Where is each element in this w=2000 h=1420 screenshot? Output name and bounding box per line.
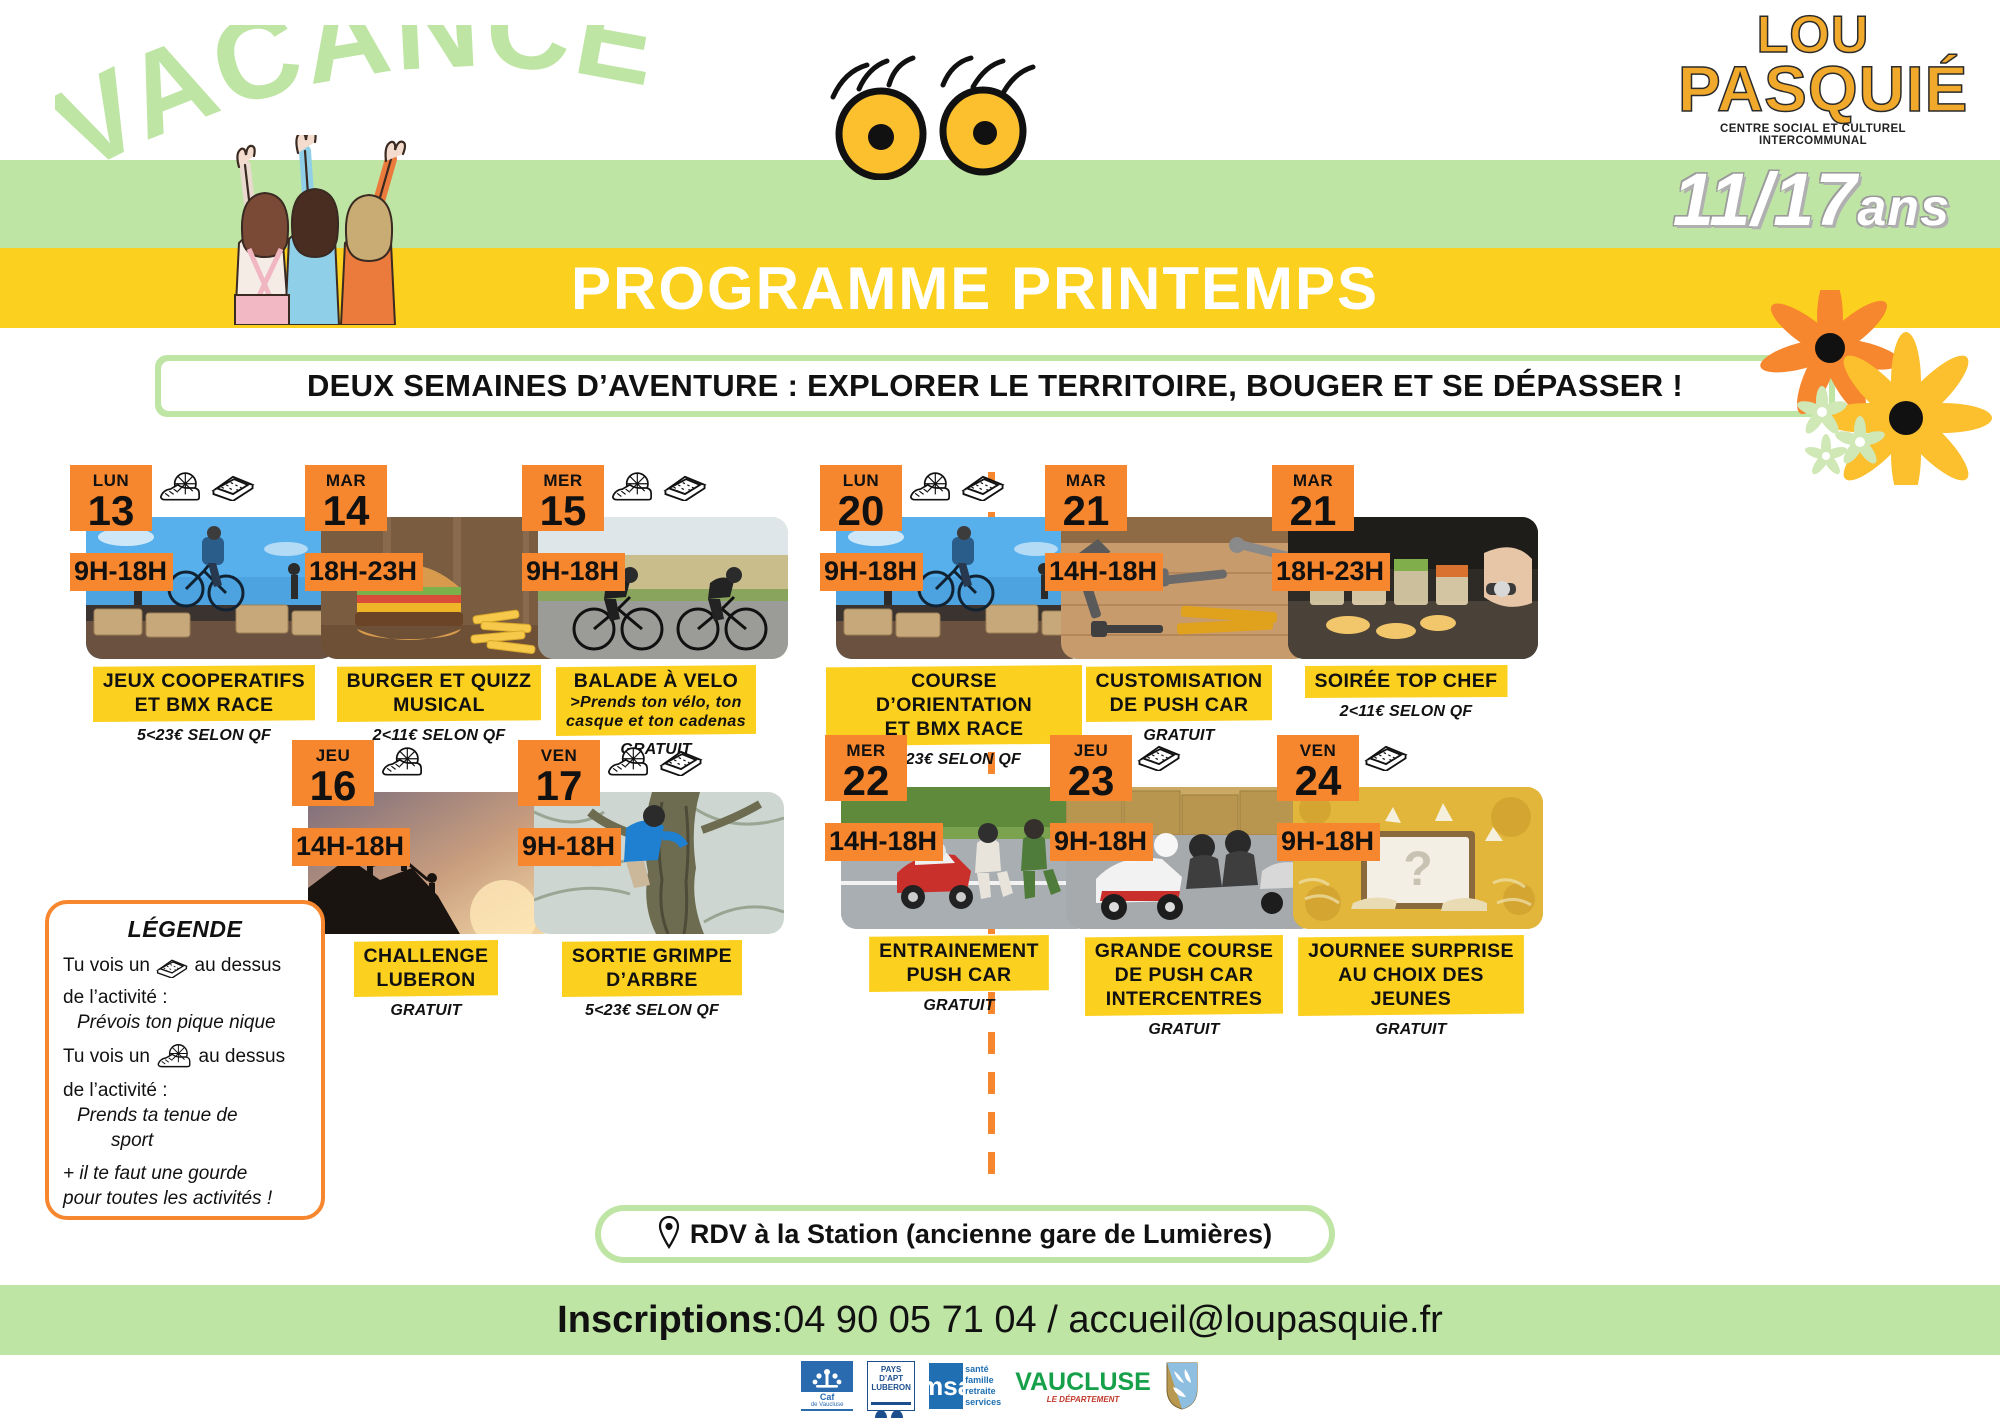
activity-day-number: 13: [70, 491, 152, 531]
activity-date-badge: MAR 21: [1045, 465, 1127, 531]
activity-caption: CHALLENGELUBERON GRATUIT: [298, 940, 554, 1020]
activity-date-badge: VEN 24: [1277, 735, 1359, 801]
legend-line-3: Prévois ton pique nique: [63, 1010, 307, 1035]
legend-line-8: + il te faut une gourde: [63, 1161, 307, 1186]
legend-line-5: de l’activité :: [63, 1078, 307, 1103]
activity-title-highlight: SOIRÉE TOP CHEF: [1305, 665, 1508, 698]
activity-day-number: 14: [305, 491, 387, 531]
activity-title-line: JEUNES: [1371, 988, 1451, 1010]
activity-caption: JEUX COOPERATIFSET BMX RACE 5<23€ SELON …: [76, 665, 332, 745]
activity-icon-group: [608, 471, 708, 510]
activity-note-line: >Prends ton vélo, ton: [566, 693, 746, 712]
activity-caption: SOIRÉE TOP CHEF 2<11€ SELON QF: [1278, 665, 1534, 721]
activity-hours-badge: 9H-18H: [522, 553, 625, 591]
subtitle-banner: DEUX SEMAINES D’AVENTURE : EXPLORER LE T…: [155, 355, 1835, 417]
activity-title-line: JOURNEE SURPRISE: [1308, 940, 1514, 962]
rdv-text: RDV à la Station (ancienne gare de Lumiè…: [690, 1219, 1272, 1250]
activity-title-line: JEUX COOPERATIFS: [103, 670, 305, 692]
activity-title-line: COURSE D’ORIENTATION: [876, 670, 1032, 716]
vaucluse-logo: VAUCLUSE LE DÉPARTEMENT: [1015, 1361, 1151, 1411]
activity-hours-badge: 9H-18H: [518, 828, 621, 866]
activity-note-line: casque et ton cadenas: [566, 712, 746, 731]
activity-hours-badge: 18H-23H: [1272, 553, 1390, 591]
activity-caption: CUSTOMISATIONDE PUSH CAR GRATUIT: [1051, 665, 1307, 745]
activity-date-badge: JEU 23: [1050, 735, 1132, 801]
rdv-banner: RDV à la Station (ancienne gare de Lumiè…: [595, 1205, 1335, 1263]
legend-l1a: Tu vois un: [63, 955, 150, 976]
activity-title-line: SOIRÉE TOP CHEF: [1315, 670, 1498, 692]
activity-title-highlight: JEUX COOPERATIFSET BMX RACE: [93, 665, 315, 722]
activity-title-line: DE PUSH CAR: [1115, 964, 1254, 986]
caf-logo: Caf de Vaucluse: [801, 1361, 853, 1411]
activity-date-badge: JEU 16: [292, 740, 374, 806]
activity-day-number: 23: [1050, 761, 1132, 801]
activity-date-badge: MER 22: [825, 735, 907, 801]
vaucluse-name: VAUCLUSE: [1015, 1369, 1151, 1395]
activity-title-line: SORTIE GRIMPE: [572, 945, 732, 967]
activity-day-number: 15: [522, 491, 604, 531]
activity-title-highlight: BURGER ET QUIZZMUSICAL: [337, 665, 542, 722]
program-title: PROGRAMME PRINTEMPS: [475, 250, 1475, 328]
activity-price: GRATUIT: [1283, 1021, 1539, 1039]
msa-services: santé famille retraite services: [965, 1364, 1001, 1408]
activity-title-line: CHALLENGE: [364, 945, 489, 967]
sport-shoe-ball-icon: [378, 746, 426, 785]
activity-title-highlight: JOURNEE SURPRISEAU CHOIX DESJEUNES: [1298, 935, 1524, 1016]
activity-day-number: 24: [1277, 761, 1359, 801]
activity-day-number: 16: [292, 766, 374, 806]
activity-day-number: 21: [1045, 491, 1127, 531]
legend-l1b: au dessus: [195, 955, 282, 976]
activity-hours-badge: 9H-18H: [1277, 823, 1380, 861]
activity-hours-badge: 9H-18H: [70, 553, 173, 591]
pal-line2: LUBERON: [868, 1383, 914, 1392]
activity-price: 2<11€ SELON QF: [1278, 703, 1534, 721]
legend-line-7: sport: [63, 1128, 307, 1153]
legend-l4b: au dessus: [199, 1046, 286, 1067]
eyes-doodle-icon: [815, 55, 1050, 180]
msa-logo: msa santé famille retraite services: [929, 1361, 1001, 1411]
sport-shoe-ball-icon: [608, 471, 656, 510]
activity-title-highlight: SORTIE GRIMPED’ARBRE: [562, 940, 742, 997]
activity-hours-badge: 9H-18H: [820, 553, 923, 591]
activity-price: GRATUIT: [1056, 1021, 1312, 1039]
activity-title-line: CUSTOMISATION: [1096, 670, 1263, 692]
inscriptions-separator: :: [773, 1299, 784, 1342]
activity-day-number: 20: [820, 491, 902, 531]
legend-line-9: pour toutes les activités !: [63, 1186, 307, 1211]
activity-caption: ENTRAINEMENTPUSH CAR GRATUIT: [831, 935, 1087, 1015]
age-range-value: 11/17: [1673, 158, 1858, 241]
activity-icon-group: [1136, 741, 1182, 776]
activity-hours-badge: 14H-18H: [1045, 553, 1163, 591]
legend-line-6: Prends ta tenue de: [63, 1103, 307, 1128]
activity-title-line: MUSICAL: [393, 694, 485, 716]
legend-line-1: Tu vois un au dessus: [63, 953, 307, 985]
activity-icon-group: [604, 746, 704, 785]
legend-line-2: de l’activité :: [63, 985, 307, 1010]
activity-title-line: LUBERON: [376, 969, 475, 991]
activity-title-highlight: ENTRAINEMENTPUSH CAR: [869, 935, 1049, 992]
activity-hours-badge: 9H-18H: [1050, 823, 1153, 861]
activity-icon-group: [906, 471, 1006, 510]
activity-title-line: PUSH CAR: [906, 964, 1011, 986]
age-range-label: 11/17ans: [1673, 163, 1950, 237]
activity-day-number: 22: [825, 761, 907, 801]
activity-hours-badge: 18H-23H: [305, 553, 423, 591]
msa-mark: msa: [929, 1363, 963, 1409]
logo-tagline: CENTRE SOCIAL ET CULTUREL INTERCOMMUNAL: [1678, 123, 1948, 147]
activity-title-line: ET BMX RACE: [135, 694, 274, 716]
activity-title-line: GRANDE COURSE: [1095, 940, 1274, 962]
activity-title-highlight: COURSE D’ORIENTATIONET BMX RACE: [826, 665, 1082, 746]
sport-shoe-ball-icon: [155, 1043, 193, 1078]
legend-title: LÉGENDE: [63, 916, 307, 943]
sandwich-icon: [1136, 741, 1182, 776]
pal-line1: PAYS D’APT: [868, 1365, 914, 1383]
activity-caption: SORTIE GRIMPED’ARBRE 5<23€ SELON QF: [524, 940, 780, 1020]
inscriptions-bar: Inscriptions : 04 90 05 71 04 / accueil@…: [0, 1285, 2000, 1355]
activity-price: GRATUIT: [831, 997, 1087, 1015]
sandwich-icon: [210, 471, 256, 510]
activity-title-line: AU CHOIX DES: [1338, 964, 1484, 986]
vaucluse-sub: LE DÉPARTEMENT: [1015, 1395, 1151, 1404]
sport-shoe-ball-icon: [156, 471, 204, 510]
activity-title-line: BALADE À VELO: [574, 670, 738, 692]
flowers-decoration: [1710, 290, 2000, 480]
activity-day-number: 21: [1272, 491, 1354, 531]
activity-day-number: 17: [518, 766, 600, 806]
activity-icon-group: [378, 746, 426, 785]
sandwich-icon: [960, 471, 1006, 510]
activity-title-highlight: GRANDE COURSEDE PUSH CARINTERCENTRES: [1085, 935, 1284, 1016]
sandwich-icon: [155, 956, 189, 985]
activity-hours-badge: 14H-18H: [825, 823, 943, 861]
activity-icon-group: [156, 471, 256, 510]
activity-date-badge: LUN 20: [820, 465, 902, 531]
inscriptions-value[interactable]: 04 90 05 71 04 / accueil@loupasquie.fr: [783, 1299, 1443, 1342]
blason-vaucluse-icon: [1165, 1361, 1199, 1411]
activity-title-line: INTERCENTRES: [1106, 988, 1262, 1010]
logo-line-2: PASQUIÉ: [1678, 60, 1948, 119]
activity-price: 5<23€ SELON QF: [524, 1002, 780, 1020]
activity-date-badge: MAR 14: [305, 465, 387, 531]
caf-name: Caf: [801, 1392, 853, 1402]
subtitle-text: DEUX SEMAINES D’AVENTURE : EXPLORER LE T…: [307, 368, 1683, 404]
activity-title-line: BURGER ET QUIZZ: [347, 670, 532, 692]
activity-date-badge: VEN 17: [518, 740, 600, 806]
svg-text:?: ?: [1403, 843, 1432, 896]
caf-sub: de Vaucluse: [801, 1402, 853, 1409]
activity-date-badge: MAR 21: [1272, 465, 1354, 531]
activity-title-highlight: CHALLENGELUBERON: [354, 940, 499, 997]
partner-logos: Caf de Vaucluse PAYS D’APT LUBERON msa s…: [0, 1358, 2000, 1414]
legend-box: LÉGENDE Tu vois un au dessus de l’activi…: [45, 900, 325, 1220]
activity-caption: GRANDE COURSEDE PUSH CARINTERCENTRES GRA…: [1056, 935, 1312, 1039]
sandwich-icon: [662, 471, 708, 510]
lou-pasquie-logo: LOU PASQUIÉ CENTRE SOCIAL ET CULTUREL IN…: [1678, 12, 1948, 147]
pays-apt-luberon-logo: PAYS D’APT LUBERON: [867, 1361, 915, 1411]
activity-date-badge: MER 15: [522, 465, 604, 531]
activity-icon-group: [1363, 741, 1409, 776]
sport-shoe-ball-icon: [906, 471, 954, 510]
sport-shoe-ball-icon: [604, 746, 652, 785]
activity-title-line: DE PUSH CAR: [1110, 694, 1249, 716]
activity-hours-badge: 14H-18H: [292, 828, 410, 866]
legend-line-4: Tu vois un au dessus: [63, 1043, 307, 1078]
sandwich-icon: [1363, 741, 1409, 776]
activity-title-highlight: BALADE À VELO>Prends ton vélo, toncasque…: [556, 665, 756, 736]
activity-date-badge: LUN 13: [70, 465, 152, 531]
age-range-suffix: ans: [1857, 179, 1950, 237]
girls-illustration: [205, 135, 435, 325]
map-pin-icon: [658, 1215, 680, 1254]
activity-price: GRATUIT: [298, 1002, 554, 1020]
inscriptions-label: Inscriptions: [557, 1299, 772, 1342]
activity-title-line: ENTRAINEMENT: [879, 940, 1039, 962]
activity-caption: JOURNEE SURPRISEAU CHOIX DESJEUNES GRATU…: [1283, 935, 1539, 1039]
sandwich-icon: [658, 746, 704, 785]
legend-l4a: Tu vois un: [63, 1046, 150, 1067]
activity-title-line: D’ARBRE: [606, 969, 698, 991]
activity-title-highlight: CUSTOMISATIONDE PUSH CAR: [1086, 665, 1273, 722]
